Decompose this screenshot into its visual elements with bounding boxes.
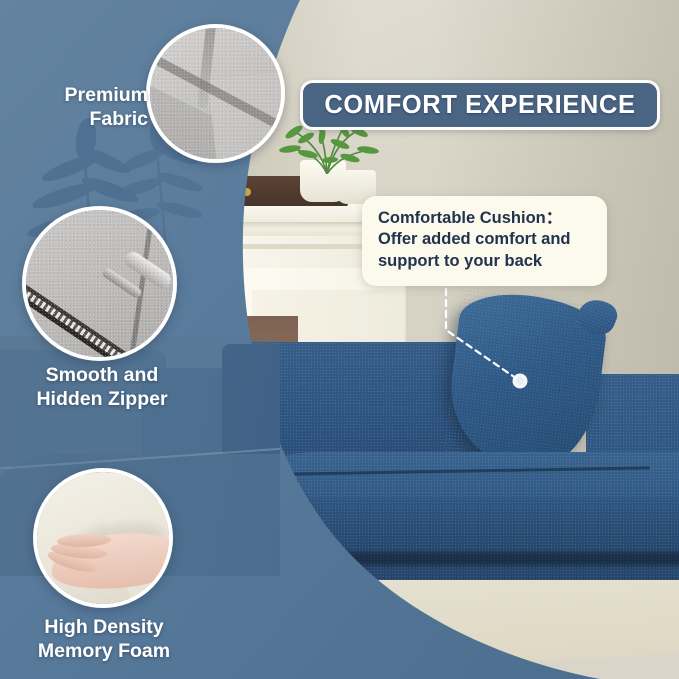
feature-label-memory-foam: High Density Memory Foam <box>14 616 194 664</box>
callout-text: Comfortable Cushion： Offer added comfort… <box>378 208 593 272</box>
feature-label-premium-fabric: Premium Fabric <box>16 84 148 132</box>
feature-image-premium-fabric <box>146 24 285 163</box>
comfortable-cushion-callout: Comfortable Cushion： Offer added comfort… <box>362 196 607 286</box>
title-badge: COMFORT EXPERIENCE <box>300 80 660 130</box>
feature-image-memory-foam <box>33 468 173 608</box>
title-text: COMFORT EXPERIENCE <box>324 91 635 120</box>
feature-image-hidden-zipper <box>22 206 177 361</box>
product-infographic: COMFORT EXPERIENCE Comfortable Cushion： … <box>0 0 679 679</box>
feature-label-hidden-zipper: Smooth and Hidden Zipper <box>12 364 192 412</box>
